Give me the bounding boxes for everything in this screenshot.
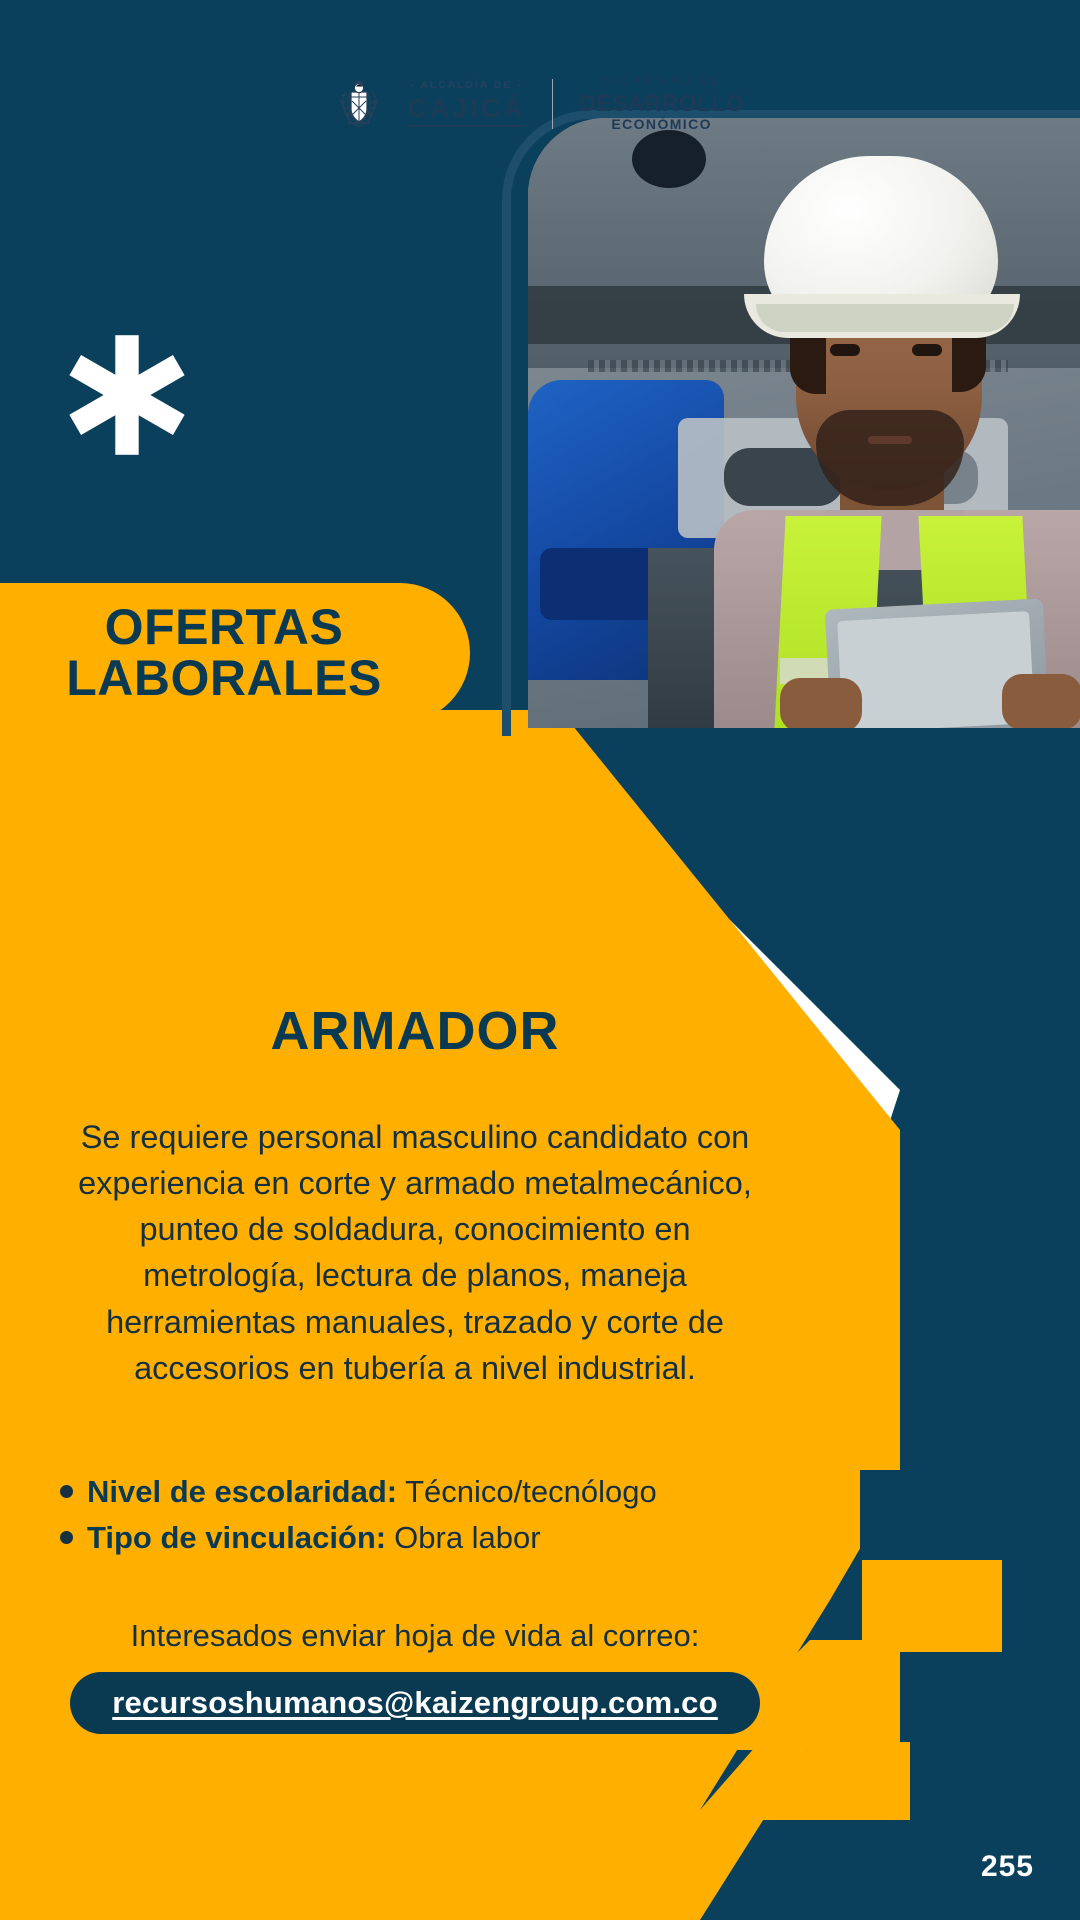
secretaria-wordmark: SECRETARÍA DE DESARROLLO ECONÓMICO xyxy=(579,76,744,132)
secretaria-line1: SECRETARÍA DE xyxy=(602,76,720,88)
contact-email[interactable]: recursoshumanos@kaizengroup.com.co xyxy=(70,1672,760,1734)
contact-cta: Interesados enviar hoja de vida al corre… xyxy=(46,1618,784,1654)
asterisk-icon xyxy=(828,800,940,912)
requirement-label: Tipo de vinculación: xyxy=(87,1520,386,1555)
list-item: Nivel de escolaridad:Técnico/tecnólogo xyxy=(60,1469,784,1516)
logo-divider xyxy=(552,79,554,129)
alcaldia-wordmark: - ALCALDÍA DE - CAJICÁ xyxy=(408,81,526,127)
orange-notch-upper xyxy=(862,1560,1002,1652)
job-offer-poster: - ALCALDÍA DE - CAJICÁ SECRETARÍA DE DES… xyxy=(0,0,1080,1920)
ofertas-laborales-badge: OFERTAS LABORALES xyxy=(0,583,470,723)
bullet-dot-icon xyxy=(60,1485,73,1498)
page-title: ARMADOR xyxy=(46,1000,784,1062)
badge-line-2: LABORALES xyxy=(66,653,382,704)
bullet-dot-icon xyxy=(60,1531,73,1544)
asterisk-icon xyxy=(62,330,192,460)
alcaldia-pre-label: - ALCALDÍA DE - xyxy=(411,81,523,91)
page-number: 255 xyxy=(981,1850,1034,1884)
badge-line-1: OFERTAS xyxy=(66,602,382,653)
job-content: ARMADOR Se requiere personal masculino c… xyxy=(0,1000,830,1734)
list-item: Tipo de vinculación:Obra labor xyxy=(60,1515,784,1562)
requirement-value: Obra labor xyxy=(394,1520,540,1555)
secretaria-line3: ECONÓMICO xyxy=(611,117,712,132)
cajica-coat-of-arms-icon xyxy=(336,79,382,129)
secretaria-line2: DESARROLLO xyxy=(579,91,744,116)
requirement-value: Técnico/tecnólogo xyxy=(405,1474,657,1509)
photo-image xyxy=(528,118,1080,728)
job-description: Se requiere personal masculino candidato… xyxy=(46,1114,784,1391)
worker-photo xyxy=(528,118,1080,728)
requirement-label: Nivel de escolaridad: xyxy=(87,1474,397,1509)
requirements-list: Nivel de escolaridad:Técnico/tecnólogo T… xyxy=(46,1469,784,1562)
header-logo-bar: - ALCALDÍA DE - CAJICÁ SECRETARÍA DE DES… xyxy=(0,68,1080,140)
alcaldia-name-label: CAJICÁ xyxy=(408,95,526,127)
badge-text: OFERTAS LABORALES xyxy=(66,602,404,704)
